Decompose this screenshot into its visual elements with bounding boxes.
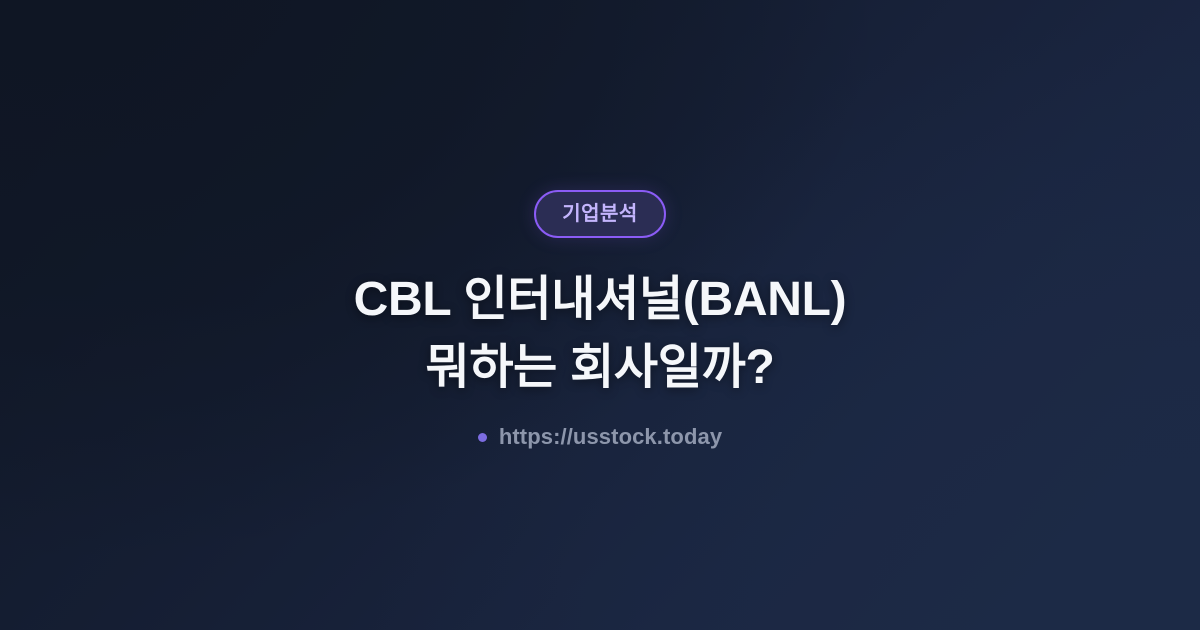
bullet-dot-icon <box>478 433 487 442</box>
site-url-row: https://usstock.today <box>478 426 722 448</box>
site-url-label: https://usstock.today <box>499 426 722 448</box>
page-title-line-2: 뭐하는 회사일까? <box>425 334 774 402</box>
category-badge-label: 기업분석 <box>562 204 638 224</box>
og-image-card: 기업분석 CBL 인터내셔널(BANL) 뭐하는 회사일까? https://u… <box>0 0 1200 630</box>
card-content: 기업분석 CBL 인터내셔널(BANL) 뭐하는 회사일까? https://u… <box>0 0 1200 448</box>
page-title: CBL 인터내셔널(BANL) 뭐하는 회사일까? <box>294 266 907 402</box>
category-badge: 기업분석 <box>534 190 666 238</box>
page-title-line-1: CBL 인터내셔널(BANL) <box>354 266 847 334</box>
